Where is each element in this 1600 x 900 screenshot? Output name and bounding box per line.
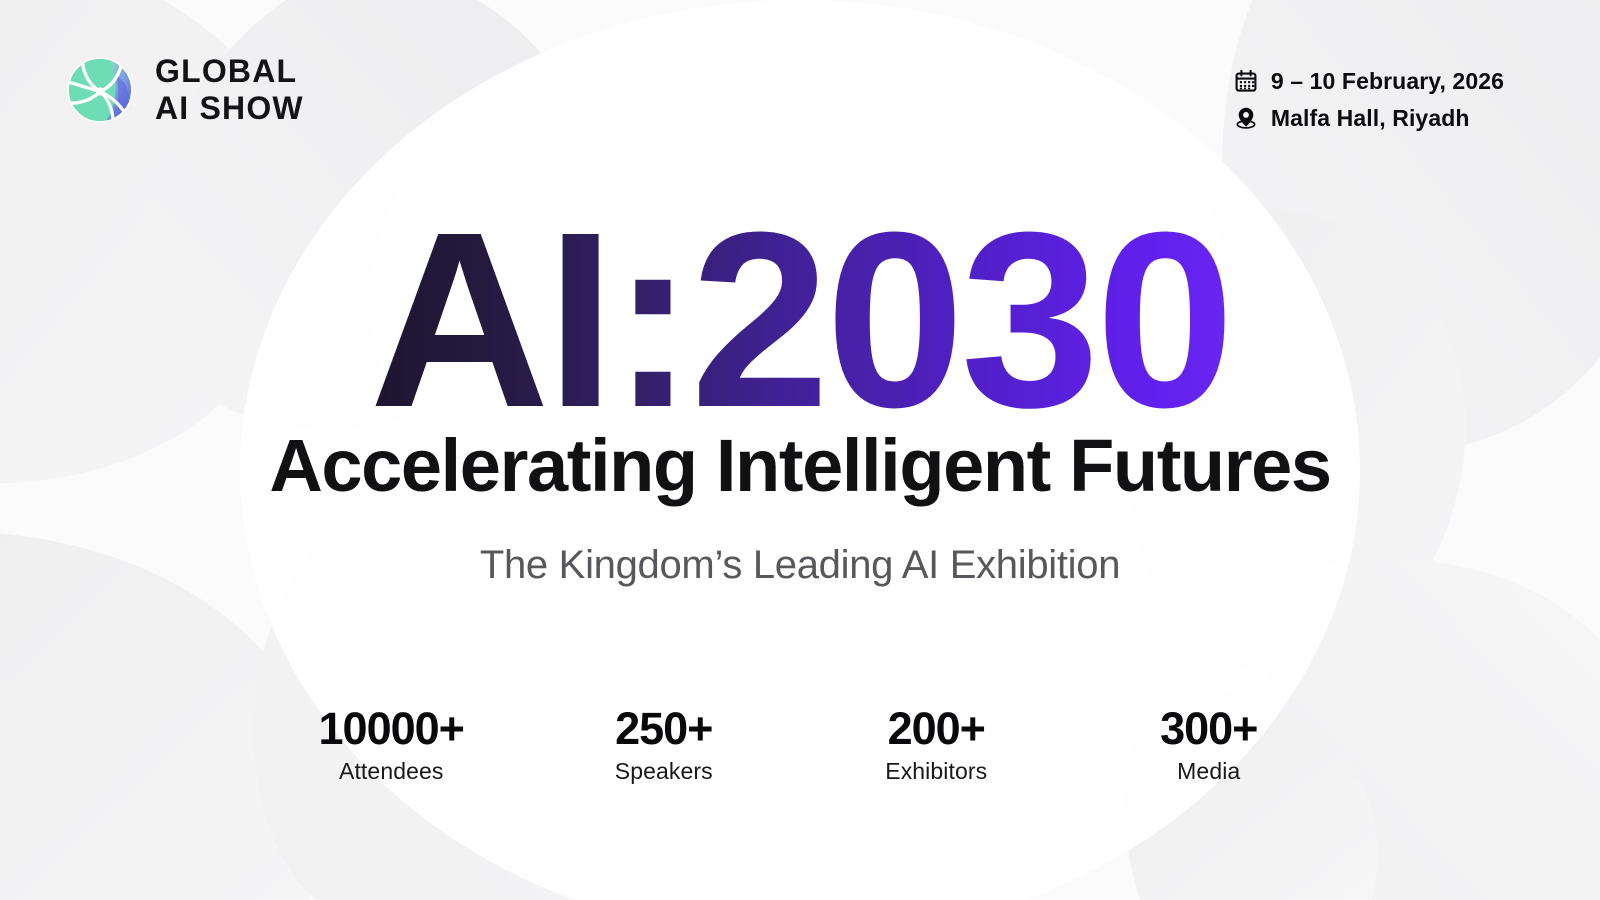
hero-tagline: The Kingdom’s Leading AI Exhibition [480, 545, 1120, 585]
stat-item: 250+ Speakers [528, 706, 801, 783]
brand-name-line1: GLOBAL [155, 55, 297, 89]
event-date-row: 9 – 10 February, 2026 [1233, 66, 1504, 96]
globe-sphere-logo-icon [62, 52, 138, 128]
location-pin-icon [1233, 105, 1259, 131]
brand-lockup[interactable]: GLOBAL AI SHOW [62, 52, 331, 128]
stat-label: Exhibitors [885, 760, 987, 783]
brand-wordmark-line1: GLOBAL [155, 55, 331, 89]
brand-wordmark: GLOBAL AI SHOW [155, 55, 331, 126]
stat-label: Attendees [339, 760, 443, 783]
hero-subtitle: Accelerating Intelligent Futures [269, 429, 1330, 503]
stats-row: 10000+ Attendees 250+ Speakers 200+ Exhi… [255, 706, 1345, 783]
stat-label: Media [1177, 760, 1240, 783]
event-meta: 9 – 10 February, 2026 Malfa Hall, Riyadh [1233, 52, 1504, 133]
brand-wordmark-line2: AI SHOW [155, 90, 331, 126]
page-title: AI:2030 [361, 212, 1238, 439]
stat-value: 250+ [615, 706, 712, 751]
stat-item: 10000+ Attendees [255, 706, 528, 783]
stat-item: 200+ Exhibitors [800, 706, 1073, 783]
stat-value: 200+ [888, 706, 985, 751]
stat-item: 300+ Media [1073, 706, 1346, 783]
brand-name-line2: AI SHOW [155, 90, 304, 126]
stat-value: 10000+ [319, 706, 464, 751]
event-date: 9 – 10 February, 2026 [1271, 68, 1504, 95]
event-location-row: Malfa Hall, Riyadh [1233, 103, 1504, 133]
event-location: Malfa Hall, Riyadh [1271, 105, 1470, 132]
hero-section: AI:2030 Accelerating Intelligent Futures… [0, 212, 1600, 585]
banner-header: GLOBAL AI SHOW [0, 0, 1600, 180]
stat-value: 300+ [1160, 706, 1257, 751]
event-banner: GLOBAL AI SHOW [0, 0, 1600, 900]
stat-label: Speakers [615, 760, 713, 783]
calendar-icon [1233, 68, 1259, 94]
